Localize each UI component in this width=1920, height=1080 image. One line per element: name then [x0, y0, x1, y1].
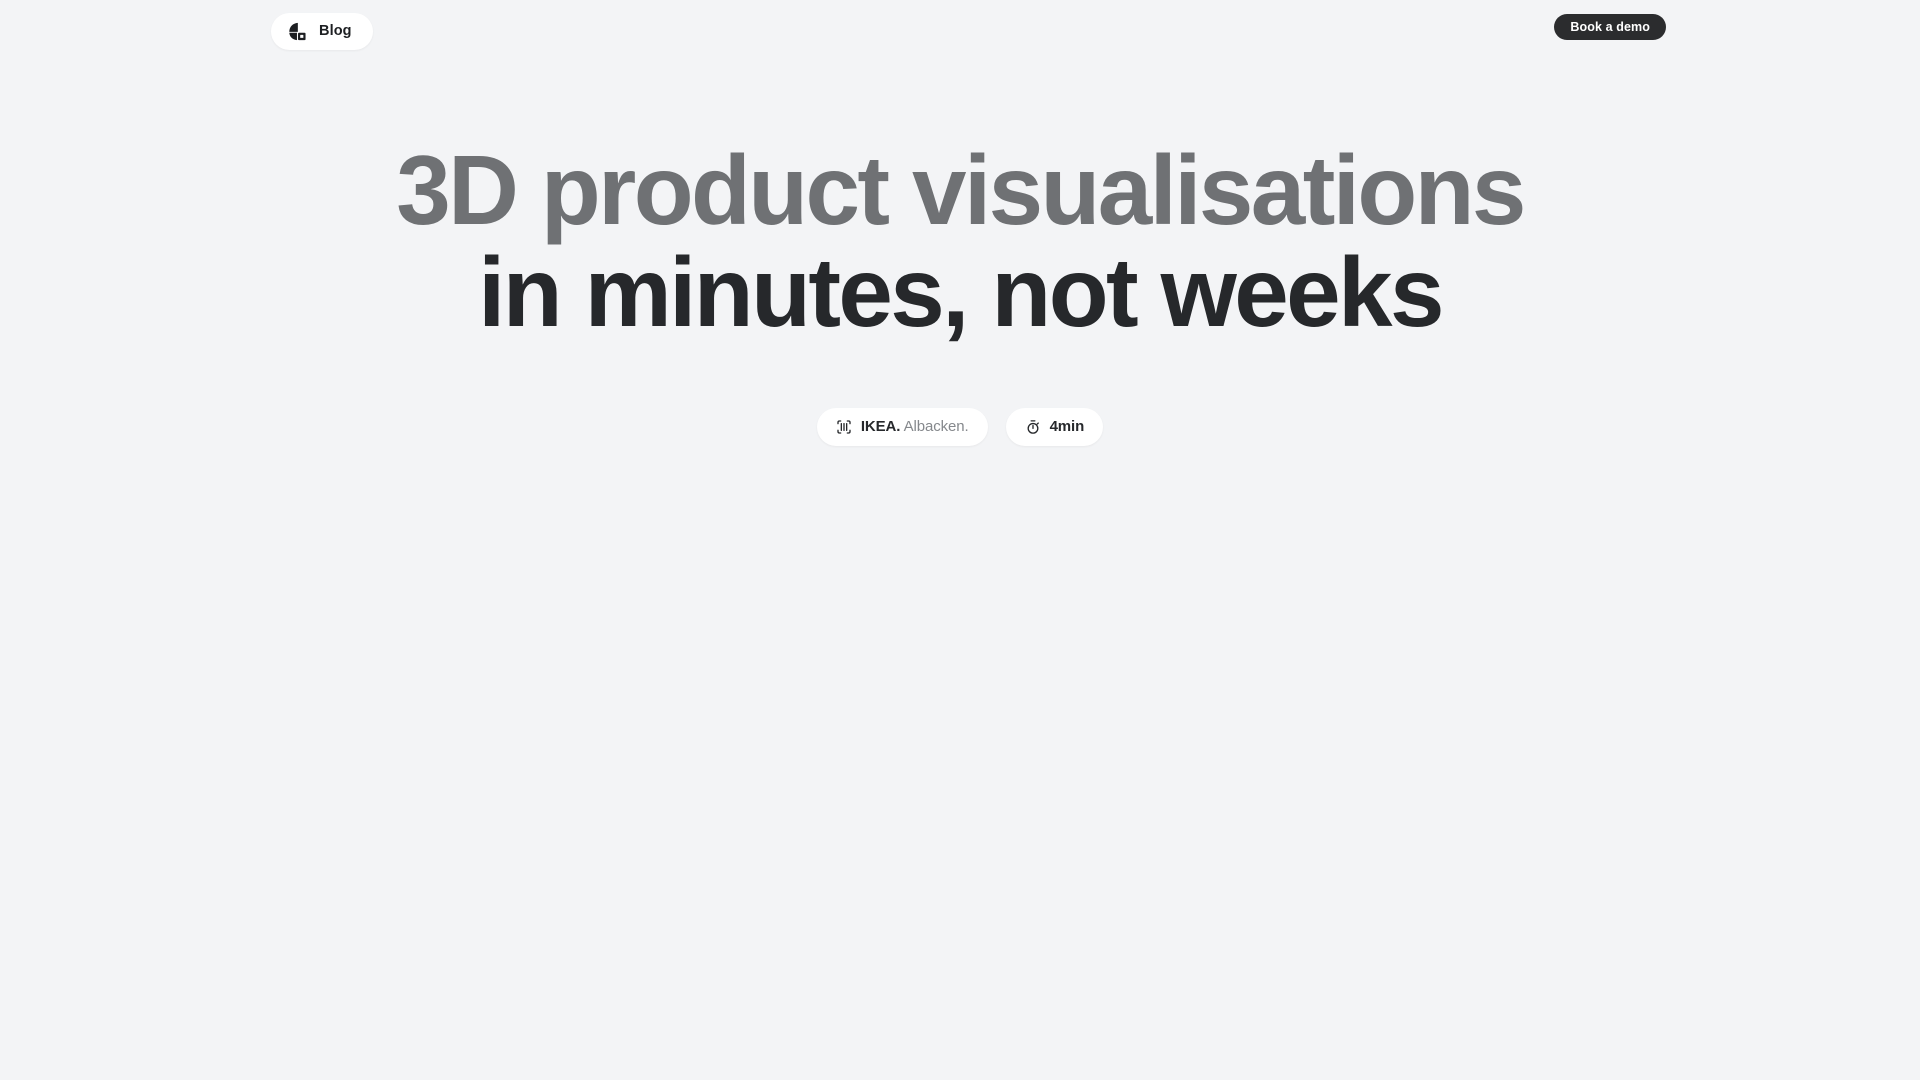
badge-product-label: IKEA. Albacken. [861, 419, 969, 434]
badge-product: IKEA. Albacken. [817, 408, 988, 446]
badge-duration: 4min [1006, 408, 1104, 446]
hero-section: 3D product visualisations in minutes, no… [0, 0, 1920, 446]
badge-brand-name: IKEA. [861, 418, 901, 435]
headline-line-1: 3D product visualisations [0, 140, 1920, 242]
headline-line-2: in minutes, not weeks [0, 242, 1920, 344]
stopwatch-icon [1025, 419, 1041, 435]
meta-badge-group: IKEA. Albacken. 4min [0, 408, 1920, 446]
page-title: 3D product visualisations in minutes, no… [0, 140, 1920, 344]
barcode-scan-icon [836, 419, 852, 435]
badge-duration-label: 4min [1050, 419, 1085, 434]
badge-product-name: Albacken. [904, 418, 969, 435]
